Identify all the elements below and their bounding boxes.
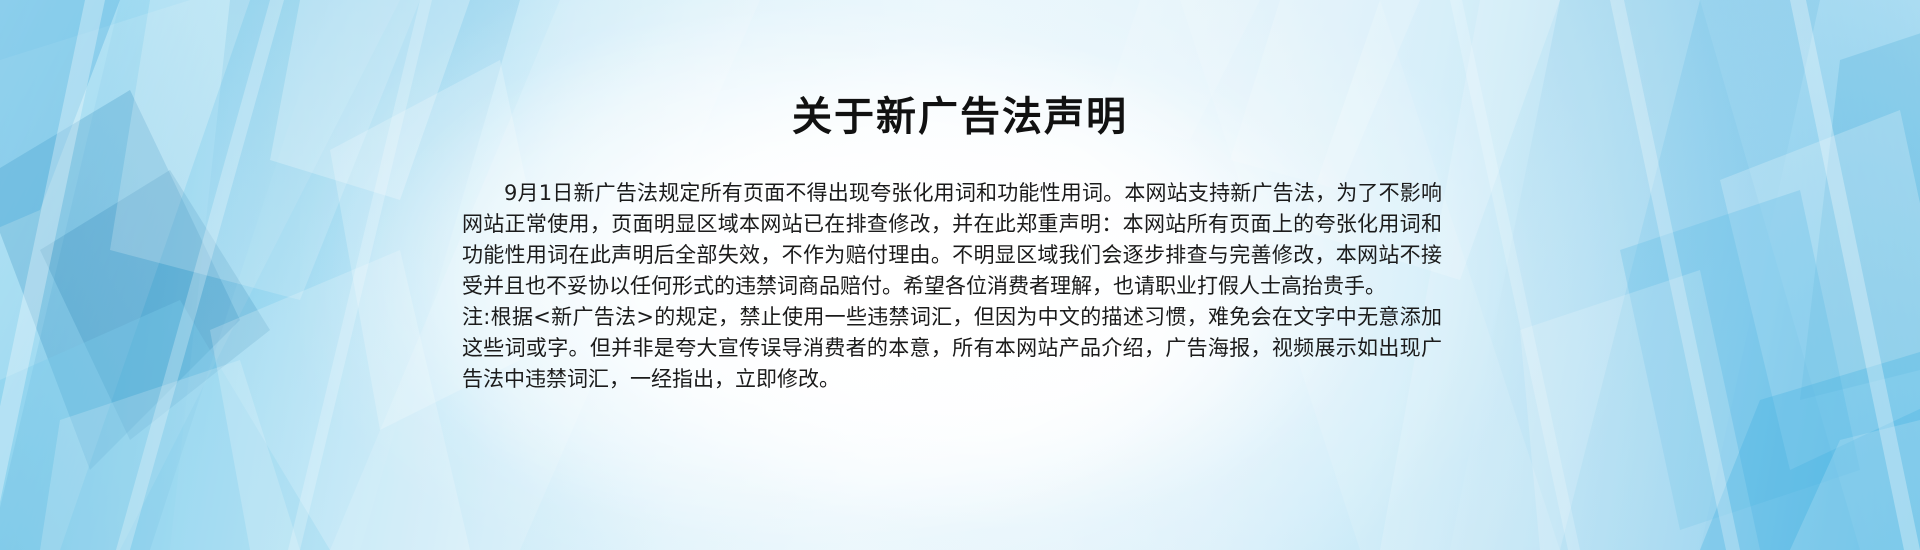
statement-body: 9月1日新广告法规定所有页面不得出现夸张化用词和功能性用词。本网站支持新广告法，… <box>462 178 1442 395</box>
statement-paragraph-1: 9月1日新广告法规定所有页面不得出现夸张化用词和功能性用词。本网站支持新广告法，… <box>462 178 1442 302</box>
advertising-law-statement-banner: 关于新广告法声明 9月1日新广告法规定所有页面不得出现夸张化用词和功能性用词。本… <box>0 0 1920 550</box>
statement-content: 关于新广告法声明 9月1日新广告法规定所有页面不得出现夸张化用词和功能性用词。本… <box>0 0 1920 550</box>
page-title: 关于新广告法声明 <box>0 84 1920 142</box>
statement-paragraph-2: 注:根据<新广告法>的规定，禁止使用一些违禁词汇，但因为中文的描述习惯，难免会在… <box>462 302 1442 395</box>
